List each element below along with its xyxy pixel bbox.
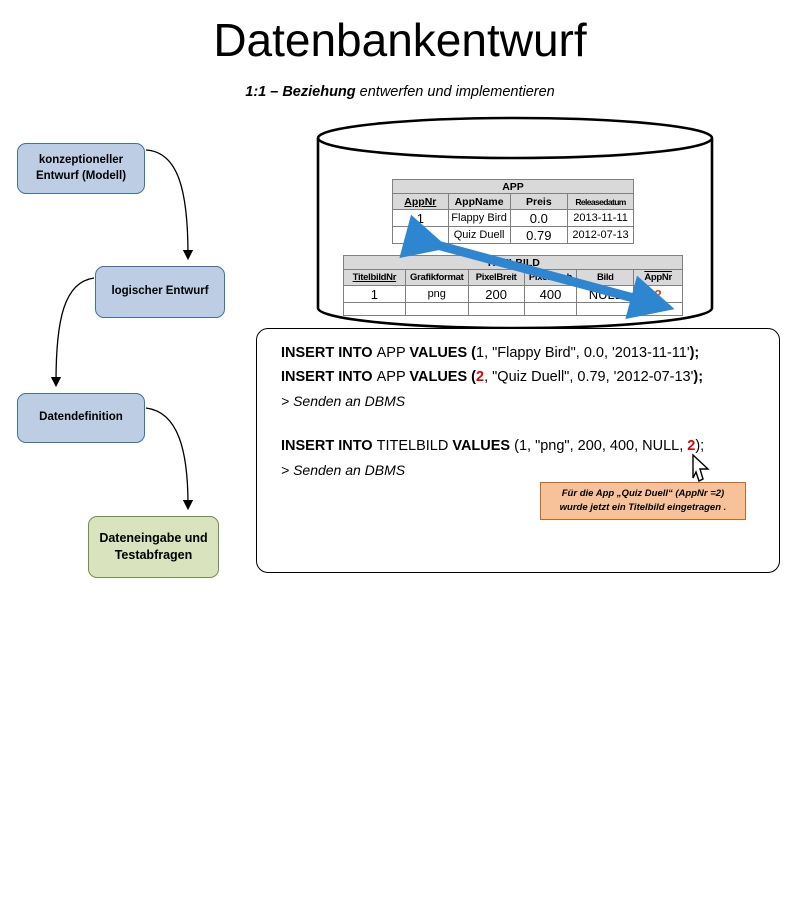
callout-line2: wurde jetzt ein Titelbild eingetragen . xyxy=(560,501,727,515)
flow-box-datendefinition[interactable]: Datendefinition xyxy=(17,393,145,443)
callout-line1: Für die App „Quiz Duell“ (AppNr =2) xyxy=(560,487,727,501)
sql-panel: INSERT INTO APP VALUES (1, "Flappy Bird"… xyxy=(256,328,780,573)
flow-box-dateneingabe-testabfragen[interactable]: Dateneingabe und Testabfragen xyxy=(88,516,219,578)
sql-segment: VALUES xyxy=(409,345,471,361)
sql-segment: VALUES xyxy=(409,369,471,385)
sql-send-note-2: > Senden an DBMS xyxy=(281,463,405,477)
flow-box-4-line1: Dateneingabe und xyxy=(99,530,207,547)
flow-box-1-line2: Entwurf (Modell) xyxy=(36,169,126,185)
sql-segment: TITELBILD xyxy=(377,438,453,454)
sql-segment: INSERT INTO xyxy=(281,369,377,385)
table-app-col-appnr: AppNr xyxy=(393,194,449,210)
sql-statement-3: INSERT INTO TITELBILD VALUES (1, "png", … xyxy=(281,439,704,454)
sql-segment: APP xyxy=(377,345,410,361)
table-app-col-preis: Preis xyxy=(510,194,568,210)
sql-segment: , "Quiz Duell", 0.79, '2012-07-13' xyxy=(484,369,693,385)
sql-segment: ); xyxy=(693,369,703,385)
sql-segment: 1, "Flappy Bird", 0.0, '2013-11-11' xyxy=(476,345,690,361)
sql-segment: APP xyxy=(377,369,410,385)
sql-segment: INSERT INTO xyxy=(281,345,377,361)
flow-box-4-line2: Testabfragen xyxy=(99,547,207,564)
sql-segment: 2 xyxy=(476,369,484,385)
callout-box: Für die App „Quiz Duell“ (AppNr =2) wurd… xyxy=(540,482,746,520)
page-subtitle-bold: 1:1 – Beziehung xyxy=(245,84,355,100)
page-subtitle-rest: entwerfen und implementieren xyxy=(356,84,555,100)
sql-statement-1: INSERT INTO APP VALUES (1, "Flappy Bird"… xyxy=(281,346,699,361)
flow-box-2-label: logischer Entwurf xyxy=(111,284,208,300)
table-app-name-row: APP xyxy=(393,180,634,194)
table-app-col-appname: AppName xyxy=(448,194,510,210)
sql-segment: VALUES xyxy=(452,438,514,454)
sql-segment: INSERT INTO xyxy=(281,438,377,454)
flow-box-konzeptioneller-entwurf[interactable]: konzeptioneller Entwurf (Modell) xyxy=(17,143,145,194)
table-app-header-row: AppNr AppName Preis Releasedatum xyxy=(393,194,634,210)
sql-send-note-1: > Senden an DBMS xyxy=(281,394,405,408)
sql-segment: ); xyxy=(690,345,700,361)
table-app-name: APP xyxy=(393,180,634,194)
table-app-col-releasedatum: Releasedatum xyxy=(568,194,634,210)
flow-box-logischer-entwurf[interactable]: logischer Entwurf xyxy=(95,266,225,318)
flow-box-1-line1: konzeptioneller xyxy=(36,153,126,169)
relation-arrow-icon xyxy=(330,215,720,325)
sql-statement-2: INSERT INTO APP VALUES (2, "Quiz Duell",… xyxy=(281,370,703,385)
flow-box-3-label: Datendefinition xyxy=(39,410,123,426)
sql-segment: (1, "png", 200, 400, NULL, xyxy=(514,438,687,454)
mouse-cursor-icon xyxy=(690,452,712,482)
